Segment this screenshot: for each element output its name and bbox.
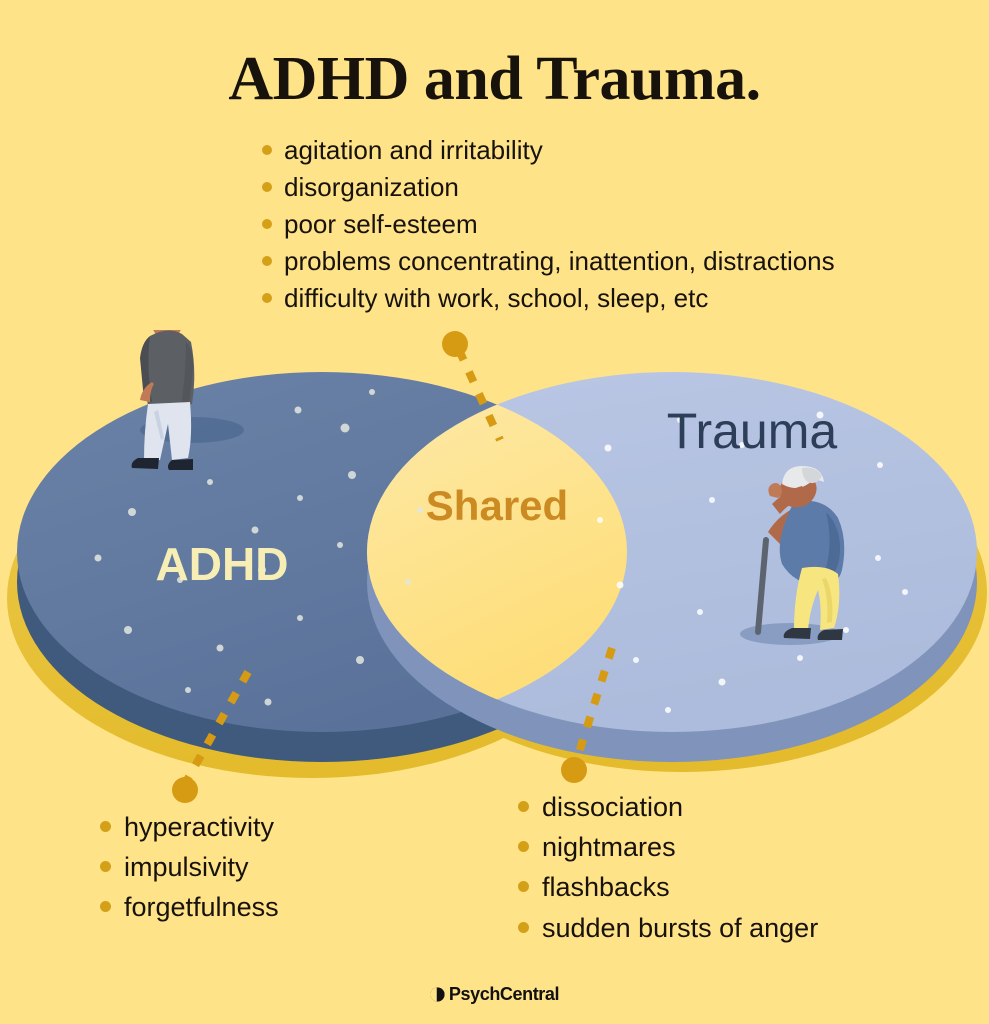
bullet-dot-icon xyxy=(100,901,111,912)
list-item-label: problems concentrating, inattention, dis… xyxy=(284,247,835,277)
list-item: sudden bursts of anger xyxy=(518,913,938,943)
bullet-dot-icon xyxy=(100,821,111,832)
page-title: ADHD and Trauma. xyxy=(0,48,989,110)
list-item: problems concentrating, inattention, dis… xyxy=(262,247,982,277)
shared-label: Shared xyxy=(426,482,568,529)
bullet-dot-icon xyxy=(100,861,111,872)
list-item: disorganization xyxy=(262,173,982,203)
shared-symptoms-list: agitation and irritability disorganizati… xyxy=(262,136,982,320)
bullet-dot-icon xyxy=(262,145,272,155)
bullet-dot-icon xyxy=(518,881,529,892)
list-item-label: impulsivity xyxy=(124,852,249,882)
list-item-label: dissociation xyxy=(542,792,683,822)
infographic-canvas: ADHD and Trauma. agitation and irritabil… xyxy=(0,0,989,1024)
list-item: difficulty with work, school, sleep, etc xyxy=(262,284,982,314)
list-item-label: flashbacks xyxy=(542,872,670,902)
bullet-dot-icon xyxy=(518,841,529,852)
list-item: flashbacks xyxy=(518,872,938,902)
footer-branding: PsychCentral xyxy=(0,984,989,1005)
list-item-label: agitation and irritability xyxy=(284,136,543,166)
bullet-dot-icon xyxy=(518,922,529,933)
psychcentral-circle-mark xyxy=(430,987,445,1002)
list-item: forgetfulness xyxy=(100,892,430,922)
trauma-symptoms-list: dissociation nightmares flashbacks sudde… xyxy=(518,792,938,953)
bullet-dot-icon xyxy=(262,182,272,192)
list-item-label: hyperactivity xyxy=(124,812,274,842)
list-item-label: difficulty with work, school, sleep, etc xyxy=(284,284,708,314)
list-item: nightmares xyxy=(518,832,938,862)
list-item-label: poor self-esteem xyxy=(284,210,478,240)
leader-dot-adhd xyxy=(168,770,208,810)
adhd-label: ADHD xyxy=(156,538,289,590)
brand-name: PsychCentral xyxy=(449,984,559,1005)
list-item: dissociation xyxy=(518,792,938,822)
list-item-label: nightmares xyxy=(542,832,676,862)
bullet-dot-icon xyxy=(518,801,529,812)
list-item: impulsivity xyxy=(100,852,430,882)
adhd-symptoms-list: hyperactivity impulsivity forgetfulness xyxy=(100,812,430,933)
bullet-dot-icon xyxy=(262,256,272,266)
list-item-label: disorganization xyxy=(284,173,459,203)
list-item: poor self-esteem xyxy=(262,210,982,240)
list-item-label: forgetfulness xyxy=(124,892,279,922)
venn-diagram: ADHD Trauma Shared xyxy=(0,330,989,790)
bullet-dot-icon xyxy=(262,293,272,303)
list-item: agitation and irritability xyxy=(262,136,982,166)
bullet-dot-icon xyxy=(262,219,272,229)
list-item: hyperactivity xyxy=(100,812,430,842)
list-item-label: sudden bursts of anger xyxy=(542,913,818,943)
trauma-label: Trauma xyxy=(667,403,838,459)
